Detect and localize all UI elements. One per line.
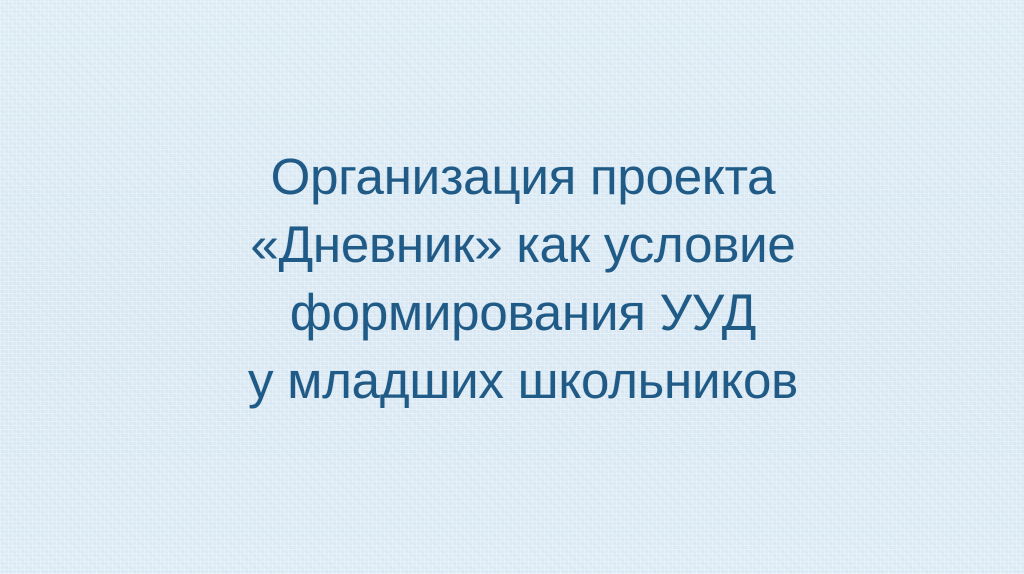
presentation-slide: Организация проекта «Дневник» как услови… xyxy=(0,0,1024,574)
slide-title-line-3: формирования УУД xyxy=(22,279,1024,347)
slide-title-line-1: Организация проекта xyxy=(22,143,1024,211)
slide-title-line-2: «Дневник» как условие xyxy=(22,211,1024,279)
slide-title-line-4: у младших школьников xyxy=(22,347,1024,415)
slide-title-block: Организация проекта «Дневник» как услови… xyxy=(0,143,1024,415)
